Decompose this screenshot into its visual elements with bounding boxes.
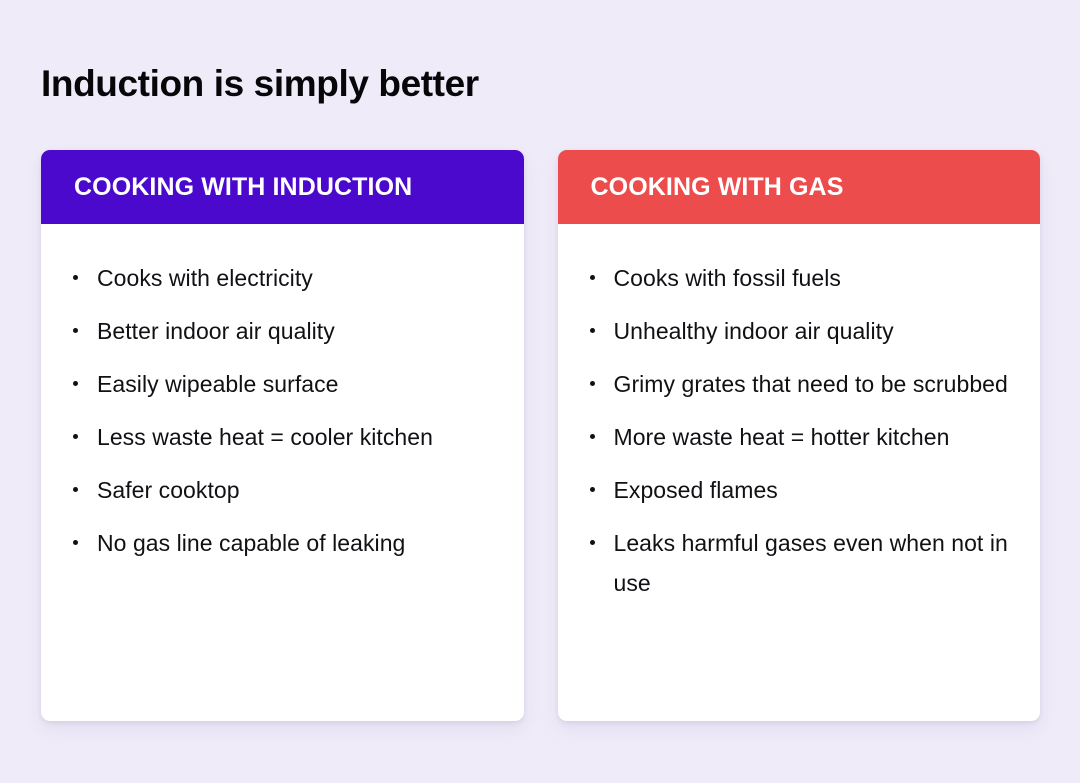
bullet-dot-icon — [590, 434, 595, 439]
card-body-gas: Cooks with fossil fuels Unhealthy indoor… — [558, 224, 1041, 721]
bullet-dot-icon — [590, 328, 595, 333]
list-item-text: Cooks with electricity — [97, 265, 313, 291]
bullet-dot-icon — [73, 275, 78, 280]
list-item: Safer cooktop — [71, 470, 494, 510]
list-item-text: More waste heat = hotter kitchen — [614, 424, 950, 450]
list-item-text: Safer cooktop — [97, 477, 240, 503]
drawback-list-gas: Cooks with fossil fuels Unhealthy indoor… — [588, 258, 1011, 603]
card-body-induction: Cooks with electricity Better indoor air… — [41, 224, 524, 721]
comparison-infographic: Induction is simply better COOKING WITH … — [0, 0, 1080, 783]
bullet-dot-icon — [590, 487, 595, 492]
card-header-title-induction: COOKING WITH INDUCTION — [74, 172, 412, 202]
list-item: Less waste heat = cooler kitchen — [71, 417, 494, 457]
bullet-dot-icon — [73, 487, 78, 492]
list-item-text: Better indoor air quality — [97, 318, 335, 344]
list-item: More waste heat = hotter kitchen — [588, 417, 1011, 457]
bullet-dot-icon — [590, 275, 595, 280]
card-header-induction: COOKING WITH INDUCTION — [41, 150, 524, 224]
card-header-title-gas: COOKING WITH GAS — [591, 172, 844, 202]
bullet-dot-icon — [73, 540, 78, 545]
list-item: Exposed flames — [588, 470, 1011, 510]
list-item: Better indoor air quality — [71, 311, 494, 351]
card-cooking-with-gas: COOKING WITH GAS Cooks with fossil fuels… — [558, 150, 1041, 721]
comparison-cards: COOKING WITH INDUCTION Cooks with electr… — [41, 150, 1040, 721]
card-header-gas: COOKING WITH GAS — [558, 150, 1041, 224]
list-item: Cooks with fossil fuels — [588, 258, 1011, 298]
list-item-text: Grimy grates that need to be scrubbed — [614, 371, 1008, 397]
card-cooking-with-induction: COOKING WITH INDUCTION Cooks with electr… — [41, 150, 524, 721]
bullet-dot-icon — [590, 381, 595, 386]
list-item-text: Exposed flames — [614, 477, 778, 503]
list-item-text: No gas line capable of leaking — [97, 530, 405, 556]
benefit-list-induction: Cooks with electricity Better indoor air… — [71, 258, 494, 563]
list-item: Leaks harmful gases even when not in use — [588, 523, 1011, 603]
list-item-text: Unhealthy indoor air quality — [614, 318, 894, 344]
list-item: Unhealthy indoor air quality — [588, 311, 1011, 351]
list-item-text: Less waste heat = cooler kitchen — [97, 424, 433, 450]
bullet-dot-icon — [73, 434, 78, 439]
list-item: No gas line capable of leaking — [71, 523, 494, 563]
list-item: Cooks with electricity — [71, 258, 494, 298]
bullet-dot-icon — [73, 381, 78, 386]
list-item: Easily wipeable surface — [71, 364, 494, 404]
bullet-dot-icon — [590, 540, 595, 545]
bullet-dot-icon — [73, 328, 78, 333]
list-item-text: Easily wipeable surface — [97, 371, 339, 397]
list-item-text: Leaks harmful gases even when not in use — [614, 530, 1008, 596]
page-title: Induction is simply better — [41, 60, 479, 108]
list-item-text: Cooks with fossil fuels — [614, 265, 841, 291]
list-item: Grimy grates that need to be scrubbed — [588, 364, 1011, 404]
